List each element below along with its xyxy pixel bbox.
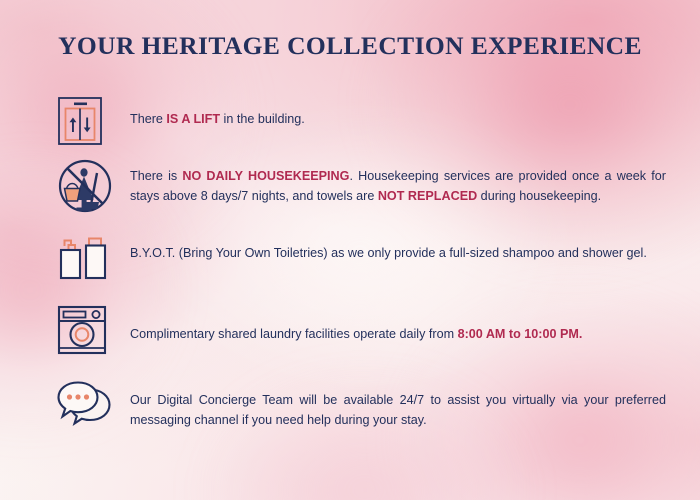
text-segment: There is — [130, 169, 182, 183]
elevator-icon — [56, 95, 104, 147]
text-segment: Complimentary shared laundry facilities … — [130, 327, 458, 341]
text-segment: during housekeeping. — [477, 189, 601, 203]
chat-bubbles-icon — [56, 378, 114, 428]
text-highlight: 8:00 AM to 10:00 PM. — [458, 327, 583, 341]
icon-cell — [56, 304, 130, 356]
text-highlight: IS A LIFT — [166, 112, 220, 126]
list-item-text: There is NO DAILY HOUSEKEEPING. Housekee… — [130, 157, 666, 207]
icon-cell — [56, 157, 130, 215]
list-item-laundry: Complimentary shared laundry facilities … — [56, 304, 666, 356]
list-item-lift: There IS A LIFT in the building. — [56, 95, 666, 147]
list-item-housekeeping: There is NO DAILY HOUSEKEEPING. Housekee… — [56, 157, 666, 215]
toiletry-bottles-icon — [56, 234, 112, 282]
list-item-text: Complimentary shared laundry facilities … — [130, 304, 666, 344]
list-item-text: There IS A LIFT in the building. — [130, 95, 666, 129]
text-highlight: NOT REPLACED — [378, 189, 477, 203]
washing-machine-icon — [56, 304, 110, 356]
icon-cell — [56, 95, 130, 147]
no-housekeeping-icon — [56, 157, 114, 215]
list-item-toiletries: B.Y.O.T. (Bring Your Own Toiletries) as … — [56, 234, 666, 282]
list-item-text: Our Digital Concierge Team will be avail… — [130, 378, 666, 431]
page-title: YOUR HERITAGE COLLECTION EXPERIENCE — [0, 31, 700, 61]
list-item-text: B.Y.O.T. (Bring Your Own Toiletries) as … — [130, 234, 666, 263]
icon-cell — [56, 378, 130, 428]
text-segment: There — [130, 112, 166, 126]
text-segment: B.Y.O.T. (Bring Your Own Toiletries) as … — [130, 246, 647, 260]
heritage-collection-experience-card: YOUR HERITAGE COLLECTION EXPERIENCE — [0, 0, 700, 500]
icon-cell — [56, 234, 130, 282]
text-segment: in the building. — [220, 112, 305, 126]
list-item-concierge: Our Digital Concierge Team will be avail… — [56, 378, 666, 431]
text-segment: Our Digital Concierge Team will be avail… — [130, 393, 666, 427]
text-highlight: NO DAILY HOUSEKEEPING — [182, 169, 349, 183]
